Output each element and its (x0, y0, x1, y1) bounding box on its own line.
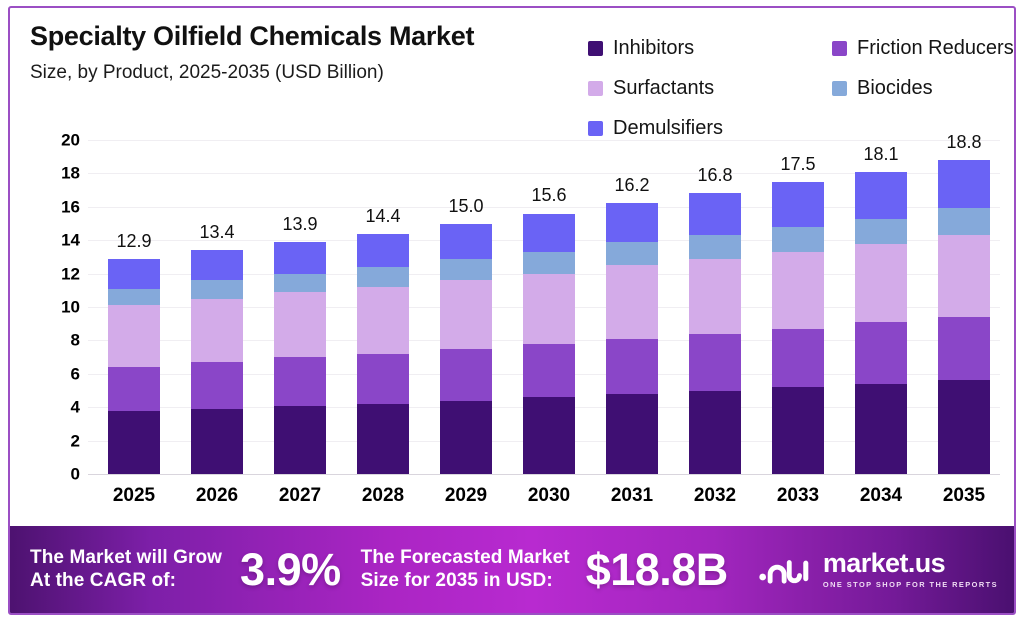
bar-value-label: 13.4 (199, 223, 234, 241)
bar-value-label: 14.4 (365, 207, 400, 225)
bar-value-label: 16.2 (614, 176, 649, 194)
bar-segment-inhibitors[interactable] (440, 401, 492, 474)
bar-segment-biocides[interactable] (523, 252, 575, 274)
bar-segment-surfactants[interactable] (689, 259, 741, 334)
bar-segment-inhibitors[interactable] (772, 387, 824, 474)
brand-text: market.us ONE STOP SHOP FOR THE REPORTS (823, 550, 998, 588)
legend-label: Biocides (857, 78, 933, 98)
x-axis-label-2030: 2030 (523, 486, 575, 505)
bar-segment-friction-reducers[interactable] (689, 334, 741, 391)
bar-segment-biocides[interactable] (606, 242, 658, 265)
x-axis-label-2029: 2029 (440, 486, 492, 505)
forecast-value: $18.8B (586, 547, 728, 592)
bar-segment-demulsifiers[interactable] (191, 250, 243, 280)
legend-item-inhibitors[interactable]: Inhibitors (588, 28, 832, 68)
bar-segment-surfactants[interactable] (357, 287, 409, 354)
bar-segment-inhibitors[interactable] (606, 394, 658, 474)
bar-segment-friction-reducers[interactable] (440, 349, 492, 401)
legend-label: Inhibitors (613, 38, 694, 58)
y-axis-tick-20: 20 (61, 132, 80, 149)
bar-value-label: 12.9 (116, 232, 151, 250)
forecast-label-line2: Size for 2035 in USD: (361, 570, 553, 591)
bar-stack (772, 182, 824, 474)
bar-value-label: 15.0 (448, 197, 483, 215)
bar-segment-inhibitors[interactable] (689, 391, 741, 475)
y-axis-tick-0: 0 (71, 466, 80, 483)
bar-stack (523, 214, 575, 474)
bar-segment-demulsifiers[interactable] (523, 214, 575, 252)
bar-stack (606, 203, 658, 474)
bar-segment-surfactants[interactable] (855, 244, 907, 322)
bar-value-label: 18.1 (863, 145, 898, 163)
y-axis-tick-6: 6 (71, 365, 80, 382)
bar-segment-biocides[interactable] (440, 259, 492, 281)
y-axis-tick-18: 18 (61, 165, 80, 182)
bar-stack (440, 224, 492, 474)
bar-segment-inhibitors[interactable] (523, 397, 575, 474)
bar-stack (689, 193, 741, 474)
bar-segment-biocides[interactable] (357, 267, 409, 287)
bar-segment-biocides[interactable] (772, 227, 824, 252)
market-us-logo-icon (758, 553, 814, 587)
legend-swatch-icon (832, 41, 847, 56)
bar-segment-demulsifiers[interactable] (274, 242, 326, 274)
bar-segment-friction-reducers[interactable] (274, 357, 326, 405)
bar-segment-biocides[interactable] (938, 208, 990, 235)
bar-segment-biocides[interactable] (274, 274, 326, 292)
bar-segment-biocides[interactable] (855, 219, 907, 244)
bar-value-label: 15.6 (531, 186, 566, 204)
infographic-root: Specialty Oilfield Chemicals Market Size… (0, 0, 1024, 621)
x-axis-label-2034: 2034 (855, 486, 907, 505)
footer-banner: The Market will Grow At the CAGR of: 3.9… (10, 526, 1014, 613)
bar-segment-friction-reducers[interactable] (357, 354, 409, 404)
x-axis-label-2031: 2031 (606, 486, 658, 505)
bar-segment-surfactants[interactable] (191, 299, 243, 362)
cagr-label-line1: The Market will Grow (30, 547, 222, 568)
brand-logo[interactable]: market.us ONE STOP SHOP FOR THE REPORTS (758, 550, 998, 588)
forecast-label-line1: The Forecasted Market (361, 547, 570, 568)
bar-value-label: 18.8 (946, 133, 981, 151)
bar-segment-demulsifiers[interactable] (440, 224, 492, 259)
page-subtitle: Size, by Product, 2025-2035 (USD Billion… (30, 62, 570, 84)
x-axis: 2025202620272028202920302031203220332034… (88, 482, 1000, 516)
bar-segment-surfactants[interactable] (108, 305, 160, 367)
legend-item-friction-reducers[interactable]: Friction Reducers (832, 28, 1016, 68)
x-axis-label-2028: 2028 (357, 486, 409, 505)
legend-label: Surfactants (613, 78, 714, 98)
bar-segment-friction-reducers[interactable] (523, 344, 575, 397)
x-axis-label-2025: 2025 (108, 486, 160, 505)
infographic-frame: Specialty Oilfield Chemicals Market Size… (8, 6, 1016, 615)
bar-segment-inhibitors[interactable] (855, 384, 907, 474)
bar-segment-inhibitors[interactable] (274, 406, 326, 474)
bar-segment-biocides[interactable] (689, 235, 741, 258)
x-axis-label-2033: 2033 (772, 486, 824, 505)
chart-plot-area: 02468101214161820 12.913.413.914.415.015… (10, 126, 1014, 518)
bar-stack (855, 172, 907, 474)
bar-segment-inhibitors[interactable] (357, 404, 409, 474)
bar-segment-friction-reducers[interactable] (108, 367, 160, 410)
bar-segment-surfactants[interactable] (523, 274, 575, 344)
y-axis-tick-10: 10 (61, 299, 80, 316)
x-axis-label-2032: 2032 (689, 486, 741, 505)
bar-segment-surfactants[interactable] (606, 265, 658, 338)
page-title: Specialty Oilfield Chemicals Market (30, 22, 570, 52)
legend-swatch-icon (832, 81, 847, 96)
y-axis-tick-16: 16 (61, 198, 80, 215)
legend-item-surfactants[interactable]: Surfactants (588, 68, 832, 108)
bar-segment-demulsifiers[interactable] (689, 193, 741, 235)
bar-segment-friction-reducers[interactable] (191, 362, 243, 409)
x-axis-label-2026: 2026 (191, 486, 243, 505)
bar-segment-biocides[interactable] (108, 289, 160, 306)
x-axis-label-2035: 2035 (938, 486, 990, 505)
bar-value-label: 16.8 (697, 166, 732, 184)
chart-header: Specialty Oilfield Chemicals Market Size… (10, 8, 1014, 126)
bar-segment-demulsifiers[interactable] (357, 234, 409, 267)
bar-stack (191, 250, 243, 474)
bar-segment-surfactants[interactable] (274, 292, 326, 357)
bar-segment-friction-reducers[interactable] (772, 329, 824, 387)
x-axis-label-2027: 2027 (274, 486, 326, 505)
bar-stack (357, 234, 409, 474)
legend-item-biocides[interactable]: Biocides (832, 68, 1016, 108)
bar-segment-demulsifiers[interactable] (108, 259, 160, 289)
bar-segment-inhibitors[interactable] (108, 411, 160, 474)
bar-stack (108, 259, 160, 474)
y-axis-tick-12: 12 (61, 265, 80, 282)
title-block: Specialty Oilfield Chemicals Market Size… (30, 22, 570, 84)
bar-stack (938, 160, 990, 474)
bar-segment-friction-reducers[interactable] (938, 317, 990, 380)
bar-segment-demulsifiers[interactable] (606, 203, 658, 241)
cagr-label: The Market will Grow At the CAGR of: (30, 547, 222, 592)
bar-value-label: 17.5 (780, 155, 815, 173)
bar-segment-inhibitors[interactable] (191, 409, 243, 474)
cagr-value: 3.9% (240, 547, 341, 592)
bar-value-label: 13.9 (282, 215, 317, 233)
legend-swatch-icon (588, 81, 603, 96)
cagr-label-line2: At the CAGR of: (30, 570, 176, 591)
brand-tagline: ONE STOP SHOP FOR THE REPORTS (823, 581, 998, 588)
legend-swatch-icon (588, 41, 603, 56)
brand-name: market.us (823, 550, 998, 577)
y-axis: 02468101214161820 (32, 140, 80, 474)
bar-segment-biocides[interactable] (191, 280, 243, 298)
bar-segment-inhibitors[interactable] (938, 380, 990, 474)
y-axis-tick-2: 2 (71, 432, 80, 449)
bar-segment-demulsifiers[interactable] (938, 160, 990, 208)
y-axis-tick-4: 4 (71, 399, 80, 416)
legend-label: Friction Reducers (857, 38, 1014, 58)
bar-stack (274, 242, 326, 474)
bar-segment-surfactants[interactable] (440, 280, 492, 348)
bar-series-container: 12.913.413.914.415.015.616.216.817.518.1… (88, 140, 1000, 474)
bar-segment-surfactants[interactable] (938, 235, 990, 317)
forecast-label: The Forecasted Market Size for 2035 in U… (361, 547, 570, 592)
bar-segment-surfactants[interactable] (772, 252, 824, 329)
bar-segment-friction-reducers[interactable] (606, 339, 658, 394)
bar-segment-demulsifiers[interactable] (772, 182, 824, 227)
bar-segment-friction-reducers[interactable] (855, 322, 907, 384)
gridline-0 (88, 474, 1000, 475)
bar-segment-demulsifiers[interactable] (855, 172, 907, 219)
y-axis-tick-8: 8 (71, 332, 80, 349)
y-axis-tick-14: 14 (61, 232, 80, 249)
